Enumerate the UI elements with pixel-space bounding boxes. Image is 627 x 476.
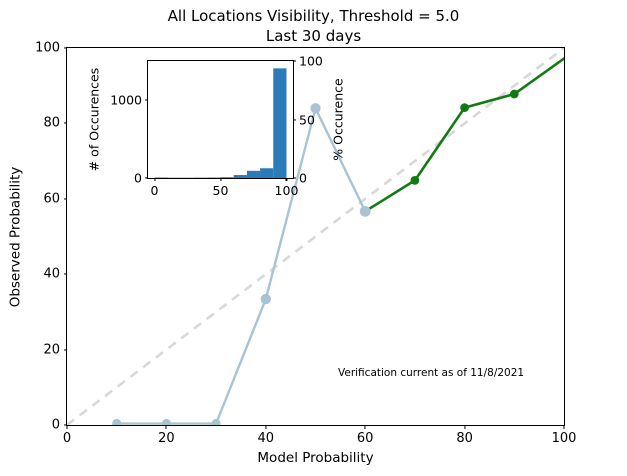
inset-x-tick-100: 100 <box>275 178 299 198</box>
inset-y-tick-0: 0 <box>134 171 148 186</box>
inset-y-axis-label-text: # of Occurences <box>87 68 102 172</box>
data-point-high <box>510 90 519 99</box>
x-axis-label: Model Probability <box>66 450 565 466</box>
data-point-low <box>261 294 271 304</box>
histogram-bar <box>260 168 273 178</box>
y-tick-80: 80 <box>43 116 67 131</box>
chart-title: All Locations Visibility, Threshold = 5.… <box>0 6 627 46</box>
y-axis-label: Observed Probability <box>6 47 24 426</box>
inset-y-tick-1000: 1000 <box>110 92 148 107</box>
inset-x-tick-50: 50 <box>213 178 229 198</box>
y-axis-label-text: Observed Probability <box>7 166 23 307</box>
data-point-low <box>212 419 221 425</box>
inset-y2-tick-50: 50 <box>293 112 315 127</box>
chart-title-line1: All Locations Visibility, Threshold = 5.… <box>0 6 627 26</box>
x-tick-40: 40 <box>258 425 275 446</box>
inset-canvas <box>148 61 293 178</box>
x-tick-80: 80 <box>456 425 473 446</box>
inset-histogram-area: 0 1000 0 50 100 0 50 100 <box>147 60 294 179</box>
inset-x-tick-0: 0 <box>151 178 159 198</box>
inset-y2-axis-label-text: % Occurence <box>331 78 346 160</box>
inset-y-axis-label: # of Occurences <box>86 60 102 179</box>
data-point-low <box>360 206 371 217</box>
inset-y2-axis-label: % Occurence <box>330 60 346 179</box>
data-point-high <box>411 176 420 185</box>
y-tick-40: 40 <box>43 267 67 282</box>
histogram-bar <box>247 171 260 178</box>
histogram-bar <box>234 175 247 178</box>
x-tick-60: 60 <box>357 425 374 446</box>
chart-title-line2: Last 30 days <box>0 26 627 46</box>
y-tick-60: 60 <box>43 191 67 206</box>
x-tick-100: 100 <box>552 425 577 446</box>
reliability-diagram-figure: All Locations Visibility, Threshold = 5.… <box>0 0 627 476</box>
data-point-high <box>460 103 469 112</box>
x-tick-20: 20 <box>158 425 175 446</box>
data-point-low <box>112 419 121 425</box>
y-tick-20: 20 <box>43 342 67 357</box>
y-tick-100: 100 <box>35 41 67 56</box>
reliability-high-line <box>365 59 564 212</box>
histogram-bar <box>273 68 286 178</box>
x-tick-0: 0 <box>63 425 71 446</box>
verification-annotation: Verification current as of 11/8/2021 <box>338 367 524 379</box>
inset-y2-tick-100: 100 <box>293 54 323 69</box>
